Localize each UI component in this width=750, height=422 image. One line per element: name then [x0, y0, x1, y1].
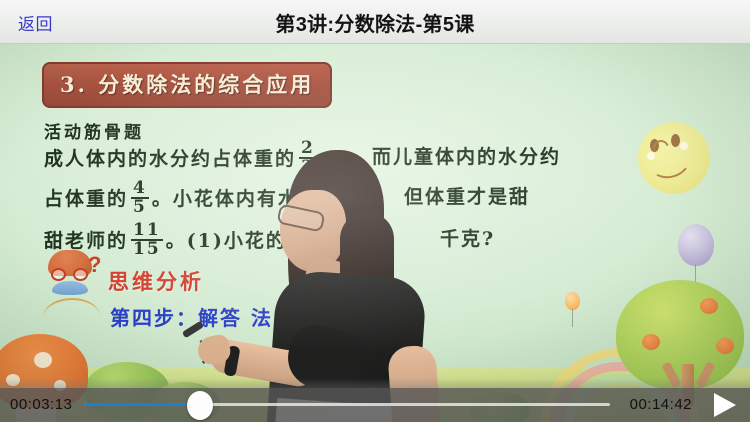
- navigation-bar: 返回 第3讲:分数除法-第5课: [0, 0, 750, 44]
- current-time-label: 00:03:13: [10, 396, 72, 413]
- play-button[interactable]: [714, 393, 736, 417]
- slide-warmup-label: 活动筋骨题: [44, 118, 144, 143]
- fraction-four-fifths: 45: [131, 180, 149, 216]
- progress-thumb[interactable]: [187, 391, 213, 420]
- video-player-screen: 返回 第3讲:分数除法-第5课: [0, 0, 750, 422]
- open-book-icon: [42, 297, 101, 319]
- fraction-eleven-fifteenths: 1115: [131, 222, 163, 258]
- small-balloon-icon: [565, 292, 580, 310]
- progress-fill: [84, 403, 200, 406]
- video-surface[interactable]: 3. 分数除法的综合应用 活动筋骨题 成人体内的水分约占体重的23 而儿童体内的…: [0, 44, 750, 422]
- total-time-label: 00:14:42: [630, 396, 692, 413]
- page-title: 第3讲:分数除法-第5课: [0, 8, 750, 37]
- small-balloon-string: [572, 309, 573, 327]
- slide-line-3a-text: 甜老师的: [44, 230, 128, 252]
- cartoon-kid-icon: [48, 250, 92, 298]
- slide-banner-title: 3. 分数除法的综合应用: [42, 62, 332, 108]
- tree-icon: [616, 280, 744, 390]
- question-mark-icon: ?: [88, 252, 101, 278]
- teacher-figure: [232, 150, 472, 422]
- thinking-analysis-label: 思维分析: [108, 266, 204, 296]
- progress-slider[interactable]: [84, 388, 610, 422]
- player-controls: 00:03:13 00:14:42: [0, 388, 750, 422]
- sun-icon: [622, 106, 726, 210]
- balloon-icon: [678, 224, 714, 266]
- slide-line-2a-text: 占体重的: [44, 188, 128, 210]
